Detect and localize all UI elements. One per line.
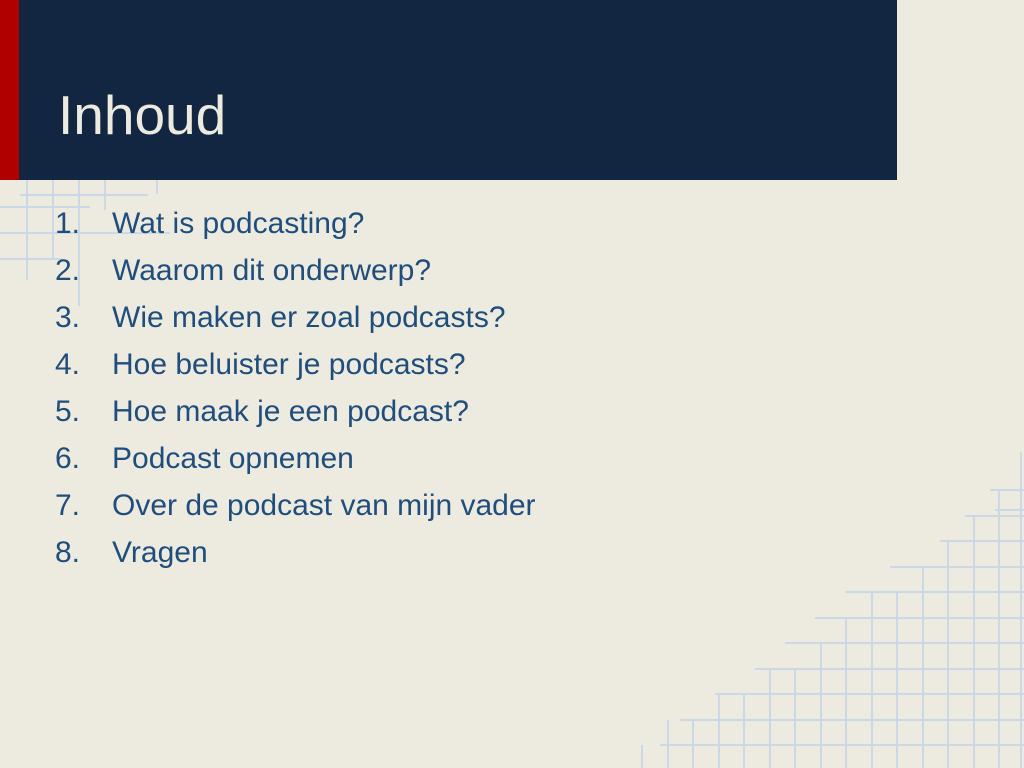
list-item-label: Vragen: [112, 529, 208, 576]
list-item: 7. Over de podcast van mijn vader: [55, 482, 935, 529]
list-item: 3. Wie maken er zoal podcasts?: [55, 294, 935, 341]
list-item-number: 6.: [55, 435, 112, 482]
page-title: Inhoud: [58, 82, 226, 148]
list-item-number: 8.: [55, 529, 112, 576]
accent-bar: [0, 0, 19, 180]
list-item: 5. Hoe maak je een podcast?: [55, 388, 935, 435]
list-item: 6. Podcast opnemen: [55, 435, 935, 482]
list-item: 2. Waarom dit onderwerp?: [55, 247, 935, 294]
list-item-label: Waarom dit onderwerp?: [112, 247, 431, 294]
list-item-label: Wat is podcasting?: [112, 200, 364, 247]
list-item-number: 7.: [55, 482, 112, 529]
list-item-number: 4.: [55, 341, 112, 388]
list-item: 1. Wat is podcasting?: [55, 200, 935, 247]
slide: Inhoud 1. Wat is podcasting? 2. Waarom d…: [0, 0, 1024, 768]
list-item-label: Over de podcast van mijn vader: [112, 482, 536, 529]
list-item-number: 3.: [55, 294, 112, 341]
list-item-number: 5.: [55, 388, 112, 435]
list-item-label: Podcast opnemen: [112, 435, 354, 482]
list-item-label: Hoe beluister je podcasts?: [112, 341, 466, 388]
list-item: 8. Vragen: [55, 529, 935, 576]
agenda-list: 1. Wat is podcasting? 2. Waarom dit onde…: [55, 200, 935, 576]
list-item-label: Hoe maak je een podcast?: [112, 388, 469, 435]
list-item-number: 1.: [55, 200, 112, 247]
list-item: 4. Hoe beluister je podcasts?: [55, 341, 935, 388]
list-item-label: Wie maken er zoal podcasts?: [112, 294, 506, 341]
list-item-number: 2.: [55, 247, 112, 294]
